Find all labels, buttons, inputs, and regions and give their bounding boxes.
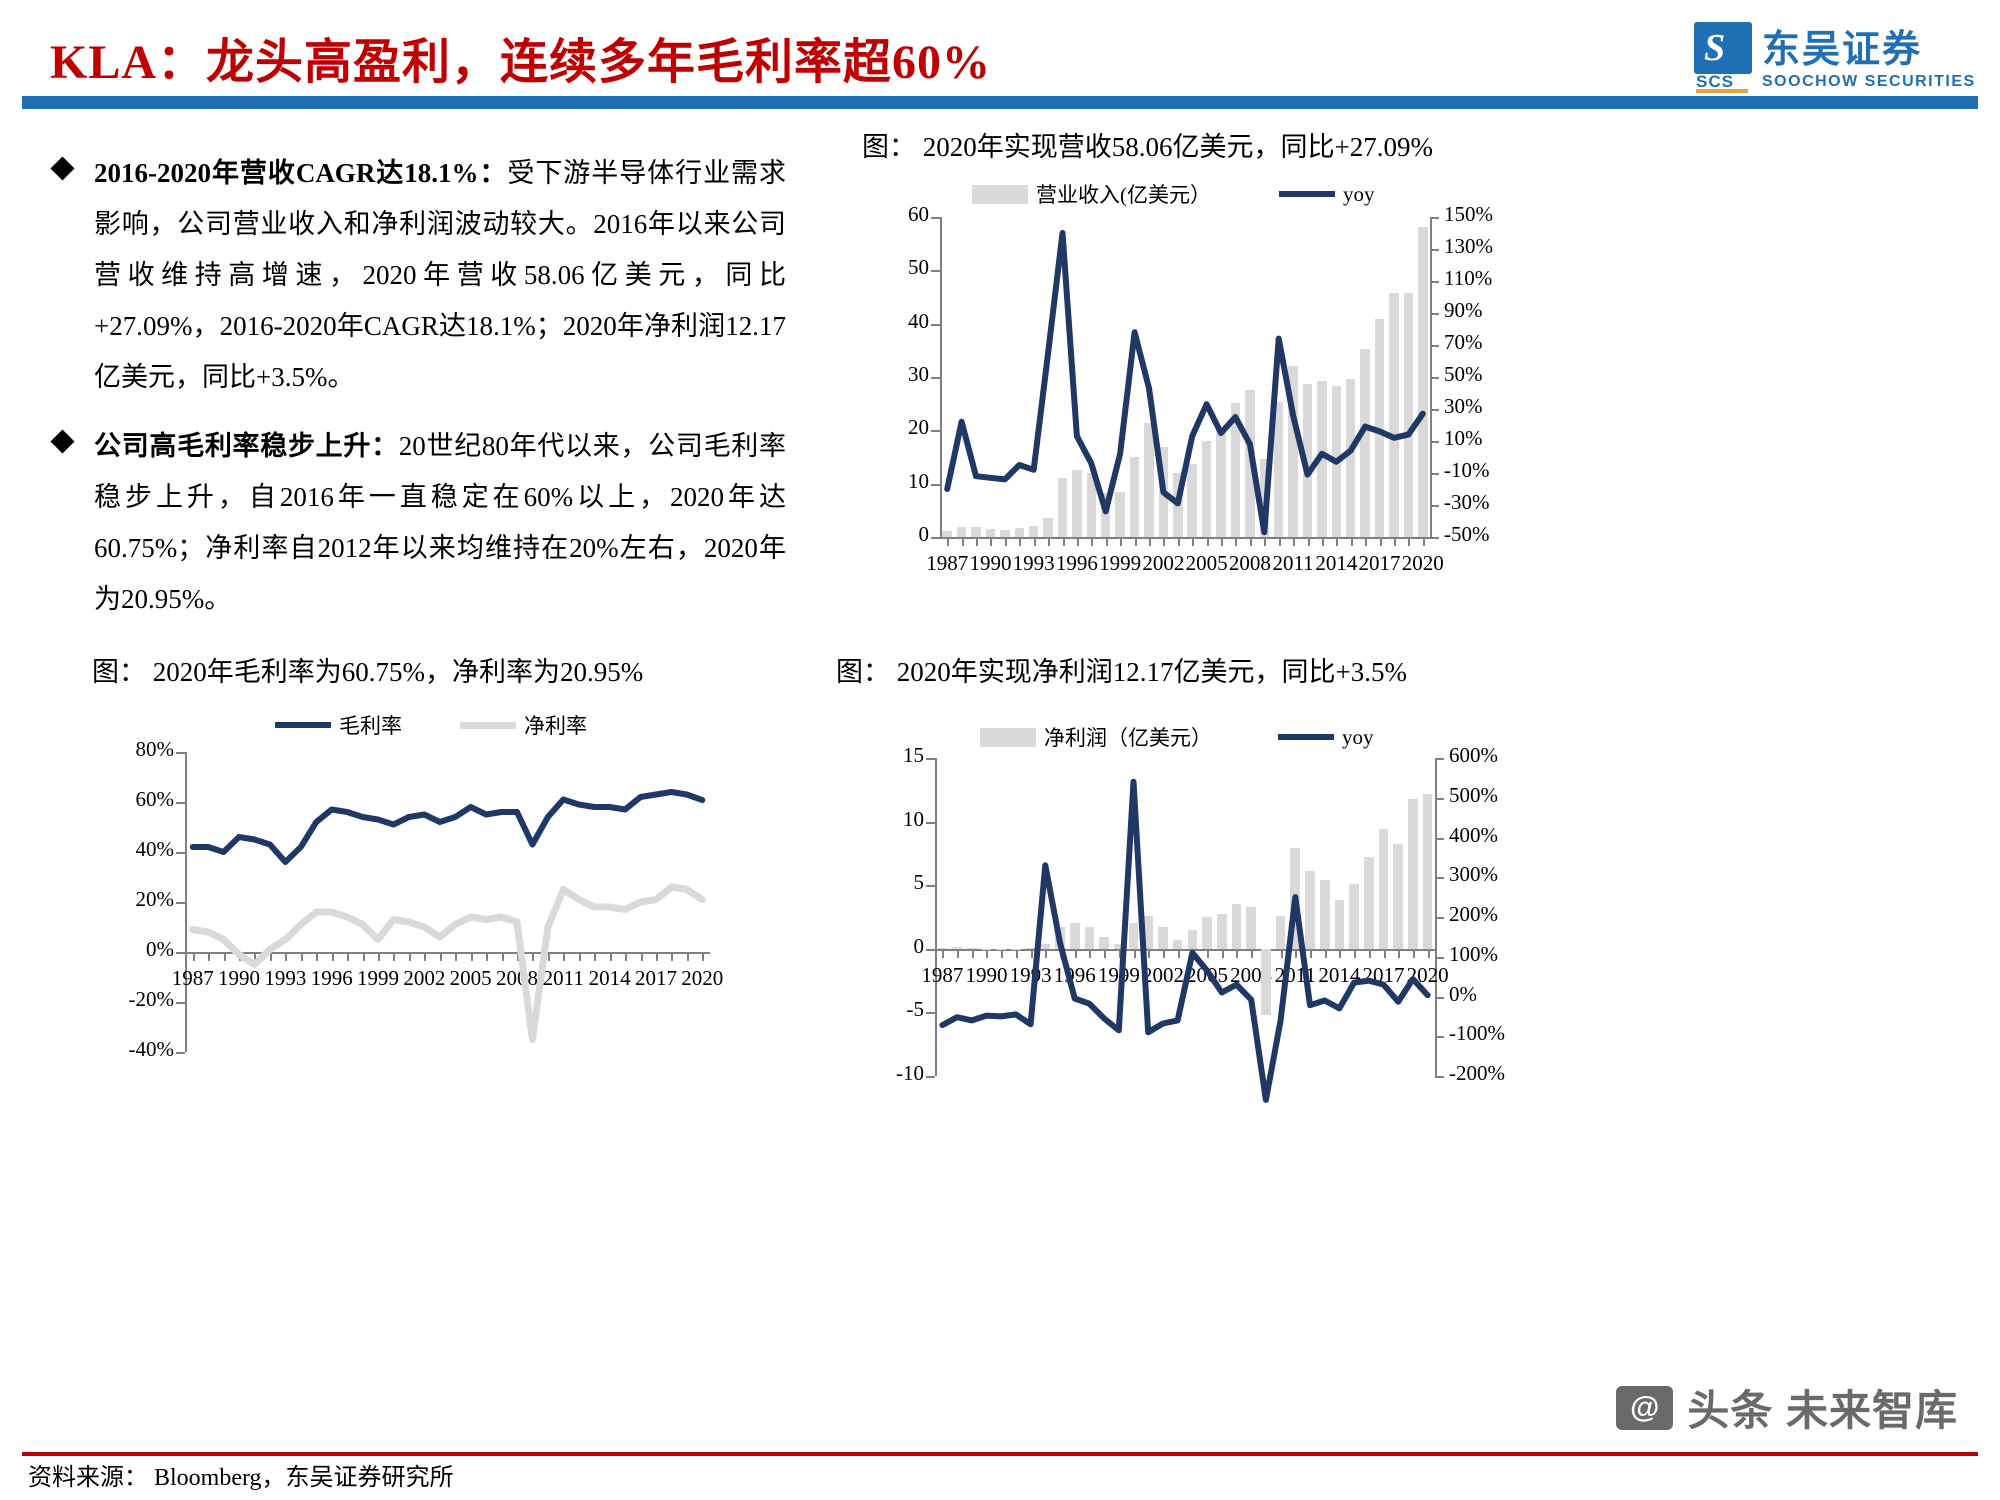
legend-label: yoy bbox=[1343, 182, 1375, 207]
series-line bbox=[947, 233, 1423, 532]
margin-plot-area: -40%-20%0%20%40%60%80%198719901993199619… bbox=[60, 742, 760, 1100]
legend-label: 毛利率 bbox=[339, 710, 402, 740]
revenue-chart-caption: 图： 2020年实现营收58.06亿美元，同比+27.09% bbox=[862, 125, 1433, 164]
series-lines bbox=[820, 205, 1590, 617]
watermark: @ 头条 未来智库 bbox=[1616, 1377, 1958, 1438]
logo-english-name: SOOCHOW SECURITIES bbox=[1762, 73, 1976, 91]
company-logo: S 东吴证券 SCS SOOCHOW SECURITIES bbox=[1694, 18, 1974, 92]
commentary-column: 2016-2020年营收CAGR达18.1%：受下游半导体行业需求影响，公司营业… bbox=[46, 148, 786, 643]
series-line bbox=[942, 782, 1427, 1100]
line-swatch-icon bbox=[1278, 734, 1334, 740]
margin-chart-legend: 毛利率 净利率 bbox=[275, 710, 587, 740]
page-header: KLA：龙头高盈利，连续多年毛利率超60% S 东吴证券 SCS SOOCHOW… bbox=[0, 0, 2000, 112]
watermark-text: 头条 未来智库 bbox=[1687, 1377, 1958, 1438]
line-swatch-icon bbox=[275, 722, 331, 728]
watermark-badge: @ bbox=[1616, 1386, 1673, 1430]
legend-item-revenue-yoy: yoy bbox=[1279, 182, 1375, 207]
series-line bbox=[193, 887, 703, 1040]
bar-swatch-icon bbox=[972, 185, 1028, 204]
margin-chart-caption: 图： 2020年毛利率为60.75%，净利率为20.95% bbox=[92, 650, 643, 689]
bullet-item: 公司高毛利率稳步上升：20世纪80年代以来，公司毛利率稳步上升，自2016年一直… bbox=[46, 421, 786, 625]
logo-chinese-name: 东吴证券 bbox=[1762, 18, 1922, 73]
diamond-bullet-icon bbox=[50, 156, 74, 180]
bullet-paragraph: 公司高毛利率稳步上升：20世纪80年代以来，公司毛利率稳步上升，自2016年一直… bbox=[94, 421, 786, 625]
bullet-paragraph: 2016-2020年营收CAGR达18.1%：受下游半导体行业需求影响，公司营业… bbox=[94, 148, 786, 403]
series-lines bbox=[820, 744, 1595, 1156]
revenue-chart: 营业收入(亿美元） yoy 0102030405060-50%-30%-10%1… bbox=[820, 175, 1520, 575]
series-lines bbox=[60, 742, 870, 1132]
netprofit-plot-area: -10-5051015-200%-100%0%100%200%300%400%5… bbox=[820, 744, 1520, 1108]
netprofit-chart-caption: 图： 2020年实现净利润12.17亿美元，同比+3.5% bbox=[836, 650, 1407, 689]
legend-item-net-margin: 净利率 bbox=[460, 710, 587, 740]
bullet-lead: 2016-2020年营收CAGR达18.1%： bbox=[94, 158, 507, 188]
source-note: 资料来源： Bloomberg，东吴证券研究所 bbox=[28, 1457, 454, 1492]
revenue-plot-area: 0102030405060-50%-30%-10%10%30%50%70%90%… bbox=[820, 205, 1520, 575]
legend-item-gross-margin: 毛利率 bbox=[275, 710, 402, 740]
line-swatch-icon bbox=[460, 722, 516, 729]
line-swatch-icon bbox=[1279, 191, 1335, 197]
netprofit-chart: 净利润（亿美元） yoy -10-5051015-200%-100%0%100%… bbox=[820, 718, 1520, 1108]
page-title: KLA：龙头高盈利，连续多年毛利率超60% bbox=[50, 22, 991, 92]
bullet-lead: 公司高毛利率稳步上升： bbox=[94, 431, 399, 461]
logo-mark-letter: S bbox=[1704, 28, 1725, 68]
bullet-item: 2016-2020年营收CAGR达18.1%：受下游半导体行业需求影响，公司营业… bbox=[46, 148, 786, 403]
margin-chart: 毛利率 净利率 -40%-20%0%20%40%60%80%1987199019… bbox=[60, 700, 760, 1100]
logo-accent-bar bbox=[1696, 89, 1748, 93]
diamond-bullet-icon bbox=[50, 429, 74, 453]
bullet-text: 受下游半导体行业需求影响，公司营业收入和净利润波动较大。2016年以来公司营收维… bbox=[94, 158, 786, 392]
series-line bbox=[193, 792, 703, 862]
header-divider bbox=[22, 96, 1978, 109]
legend-label: 净利率 bbox=[524, 710, 587, 740]
footer-divider bbox=[22, 1452, 1978, 1456]
logo-mark-icon: S bbox=[1694, 22, 1752, 74]
